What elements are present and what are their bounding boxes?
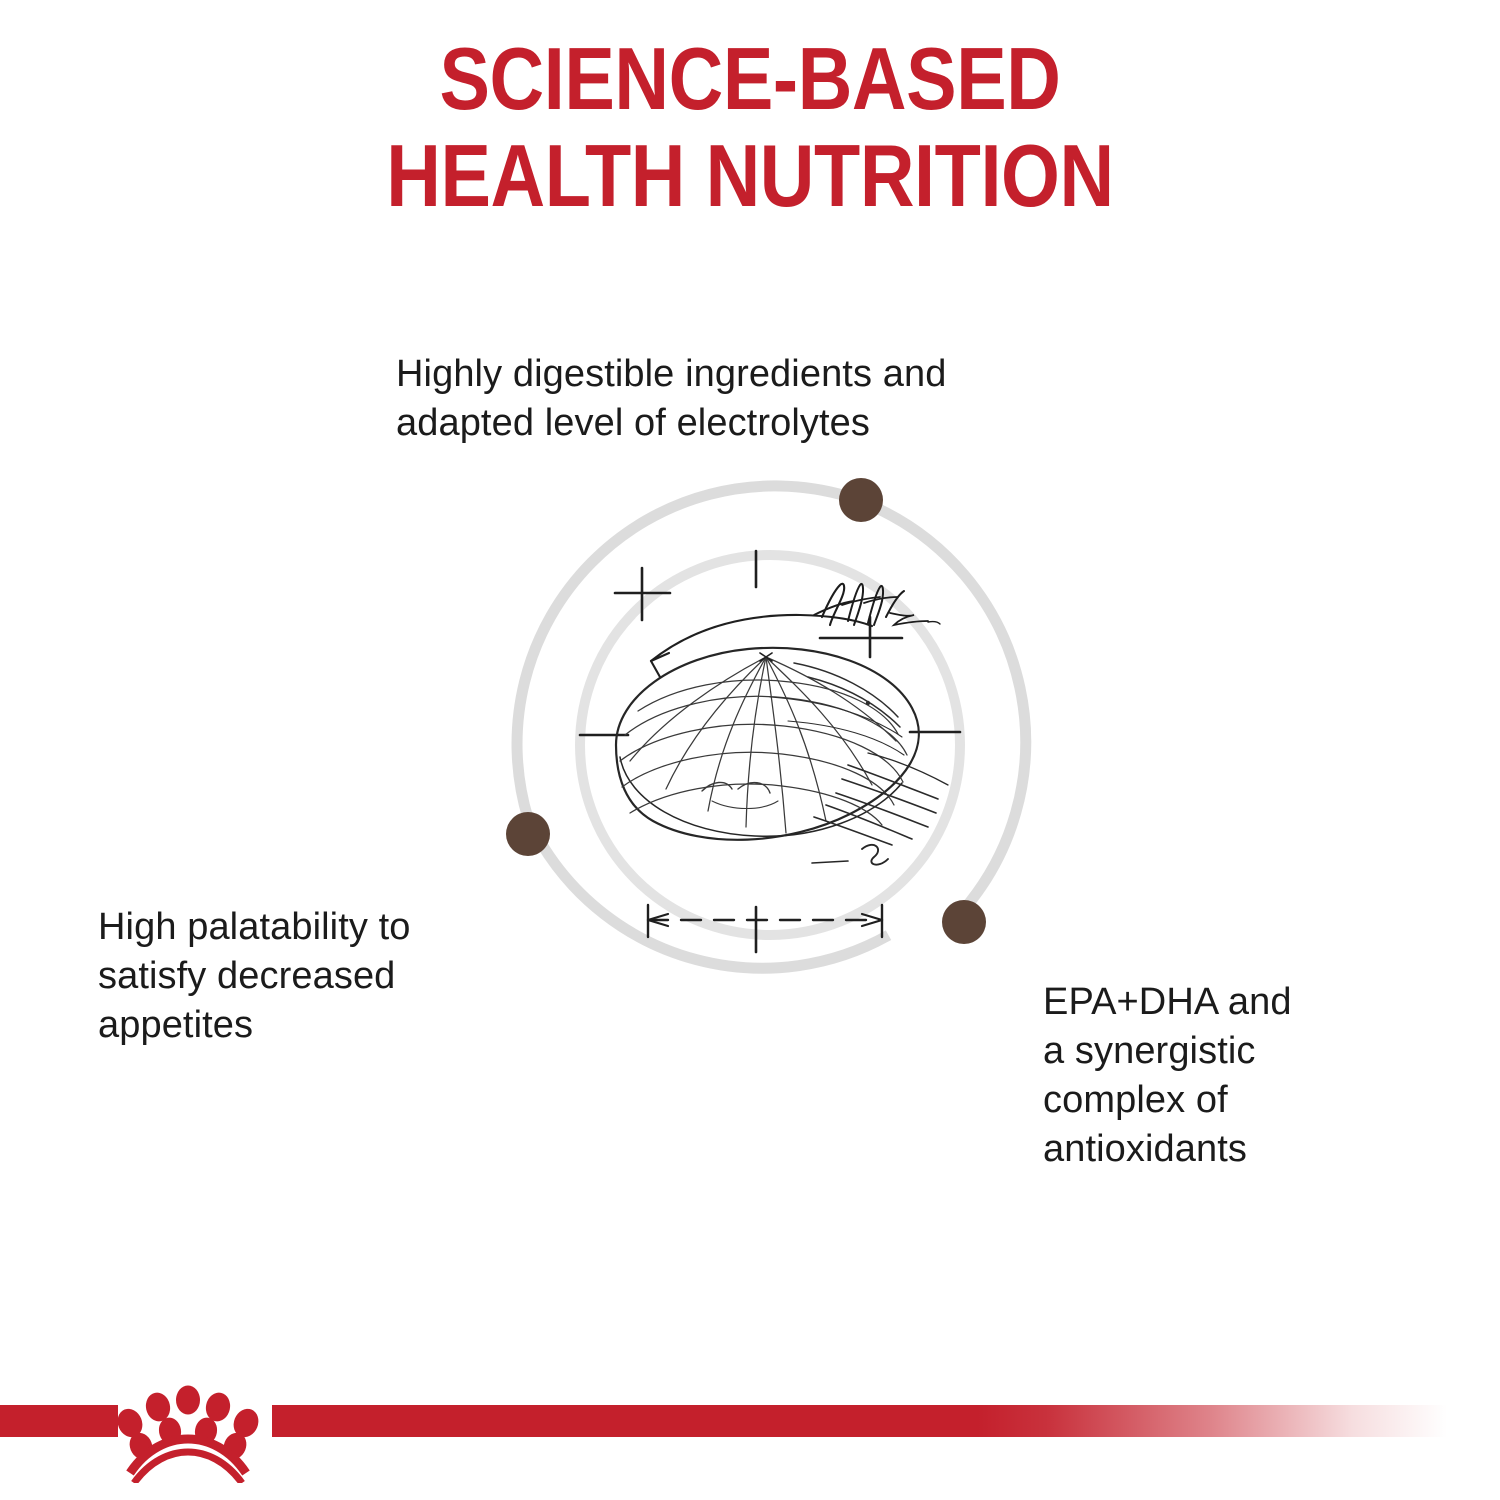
royal-canin-crown-logo [108, 1373, 280, 1483]
feature-line: antioxidants [1043, 1125, 1373, 1174]
feature-label-palatability: High palatability to satisfy decreased a… [98, 903, 518, 1050]
kibble-shading-hatch [814, 753, 948, 845]
marker-dot-right[interactable] [942, 900, 986, 944]
kibble-diagram [470, 445, 1070, 1045]
inner-ring [580, 555, 960, 935]
feature-line: appetites [98, 1001, 518, 1050]
feature-line: High palatability to [98, 903, 518, 952]
marker-dot-top[interactable] [839, 478, 883, 522]
brand-bar-left-segment [0, 1405, 118, 1437]
feature-line: Highly digestible ingredients and [396, 350, 1096, 399]
lower-right-squiggle [812, 845, 888, 865]
page-title-line-2: HEALTH NUTRITION [105, 127, 1395, 224]
feature-label-antioxidants: EPA+DHA and a synergistic complex of ant… [1043, 978, 1373, 1174]
top-left-crosshair [615, 568, 670, 620]
feature-line: satisfy decreased [98, 952, 518, 1001]
feature-line: a synergistic [1043, 1027, 1373, 1076]
page-title: SCIENCE-BASED HEALTH NUTRITION [0, 30, 1500, 224]
feature-line: complex of [1043, 1076, 1373, 1125]
footer-brand-bar [0, 1405, 1500, 1439]
feature-line: adapted level of electrolytes [396, 399, 1096, 448]
feature-label-digestibility: Highly digestible ingredients and adapte… [396, 350, 1096, 448]
brand-bar-right-segment [272, 1405, 1447, 1437]
marker-dot-bottom-left[interactable] [506, 812, 550, 856]
page-title-line-1: SCIENCE-BASED [105, 30, 1395, 127]
kibble-outline [616, 648, 919, 840]
top-guide-arc [651, 615, 872, 677]
feature-line: EPA+DHA and [1043, 978, 1373, 1027]
